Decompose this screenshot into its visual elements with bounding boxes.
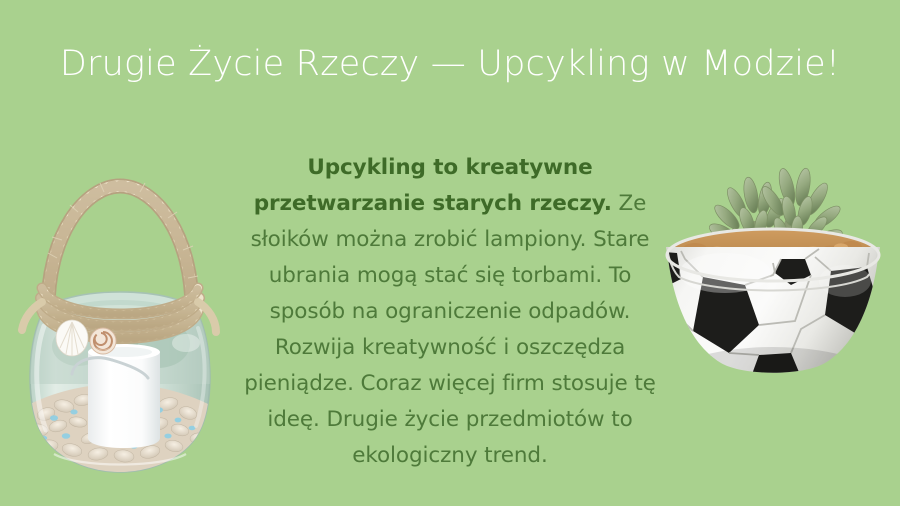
slide-canvas: Drugie Życie Rzeczy — Upcykling w Modzie… — [0, 0, 900, 506]
body-lead-sentence: Upcykling to kreatywne przetwarzanie sta… — [254, 155, 612, 216]
page-title: Drugie Życie Rzeczy — Upcykling w Modzie… — [0, 44, 900, 84]
soccer-ball-planter-image — [655, 155, 891, 387]
body-rest-sentence: Ze słoików można zrobić lampiony. Stare … — [244, 191, 656, 468]
glass-jar-lantern-image — [8, 138, 232, 474]
soccer-ball-bowl-icon — [655, 229, 891, 387]
body-paragraph: Upcykling to kreatywne przetwarzanie sta… — [238, 150, 662, 474]
